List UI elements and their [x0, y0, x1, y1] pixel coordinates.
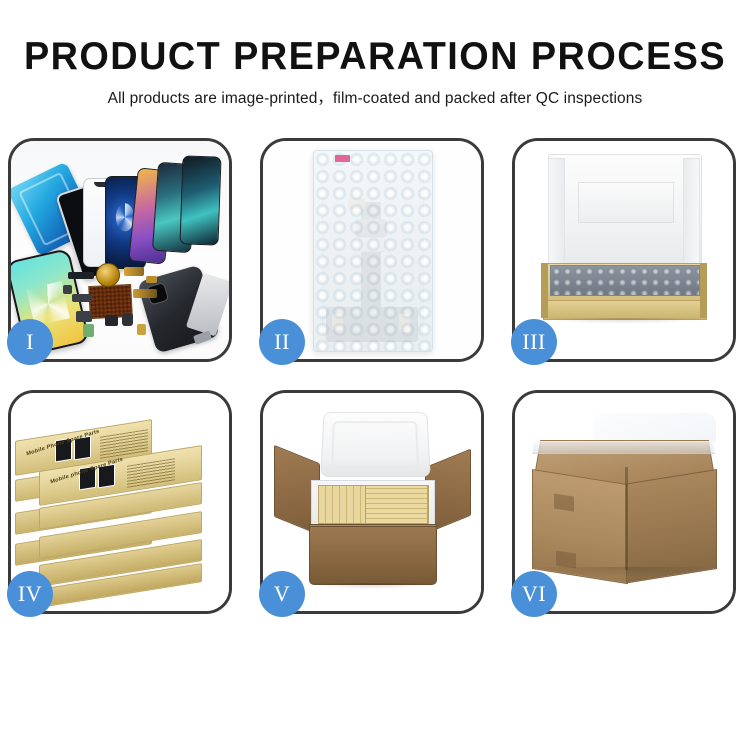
process-step-grid: I [8, 138, 742, 614]
infographic-page: PRODUCT PREPARATION PROCESS All products… [0, 0, 750, 750]
process-step-5: V [260, 390, 484, 614]
step-panel: I [8, 138, 232, 362]
pink-label-icon [335, 155, 350, 162]
process-step-6: VI [512, 390, 736, 614]
part-icon [122, 313, 133, 326]
part-icon [137, 324, 146, 335]
part-icon [63, 285, 72, 294]
part-icon [68, 272, 94, 280]
part-icon [72, 294, 92, 303]
bubble-wrap-icon [313, 150, 433, 353]
bubble-wrapped-contents-icon [550, 265, 700, 295]
process-step-2: II [260, 138, 484, 362]
carton-body-icon [309, 526, 437, 585]
part-icon [124, 267, 144, 276]
part-icon [83, 324, 94, 337]
step-badge-label: I [26, 331, 34, 353]
step-panel: II [260, 138, 484, 362]
box-flap-left-icon [548, 158, 565, 265]
process-step-3: III [512, 138, 736, 362]
step-badge-label: IV [18, 583, 42, 605]
page-subtitle: All products are image-printed，film-coat… [0, 80, 750, 109]
box-lid-icon [548, 154, 703, 269]
box-flap-right-icon [683, 158, 700, 265]
part-icon [146, 276, 157, 283]
carton-handle-tab-icon [556, 551, 576, 569]
step-badge-4: IV [7, 571, 53, 617]
step-badge-2: II [259, 319, 305, 365]
carton-corner-seam [625, 467, 628, 569]
process-step-1: I [8, 138, 232, 362]
process-step-4: Mobile Phone Spare Parts Mobile phone Sp… [8, 390, 232, 614]
drop-shadow [537, 567, 711, 576]
step-panel: VI [512, 390, 736, 614]
drop-shadow [546, 318, 703, 325]
part-icon [133, 289, 157, 298]
process-row-1: I [8, 138, 742, 362]
step-badge-label: VI [522, 583, 546, 605]
tray-edge-left-icon [541, 263, 548, 318]
step-panel: V [260, 390, 484, 614]
step-badge-label: III [522, 331, 545, 353]
page-title: PRODUCT PREPARATION PROCESS [11, 0, 739, 80]
process-row-2: Mobile Phone Spare Parts Mobile phone Sp… [8, 390, 742, 614]
step-panel: III [512, 138, 736, 362]
step-badge-6: VI [511, 571, 557, 617]
step-badge-3: III [511, 319, 557, 365]
part-icon [105, 315, 118, 326]
step-panel: Mobile Phone Spare Parts Mobile phone Sp… [8, 390, 232, 614]
header: PRODUCT PREPARATION PROCESS All products… [0, 0, 750, 109]
step-badge-5: V [259, 571, 305, 617]
drop-shadow [311, 583, 433, 590]
step-badge-label: V [274, 583, 290, 605]
packed-boxes-icon [365, 485, 428, 524]
tray-edge-right-icon [700, 263, 707, 318]
step-badge-1: I [7, 319, 53, 365]
packing-tape-icon [532, 441, 715, 454]
part-icon [76, 311, 91, 322]
foam-sheet-icon [578, 182, 675, 223]
teal-phone-2-icon [179, 156, 221, 246]
speaker-module-icon [96, 263, 120, 287]
step-badge-label: II [274, 331, 290, 353]
foam-lid-icon [320, 412, 430, 477]
